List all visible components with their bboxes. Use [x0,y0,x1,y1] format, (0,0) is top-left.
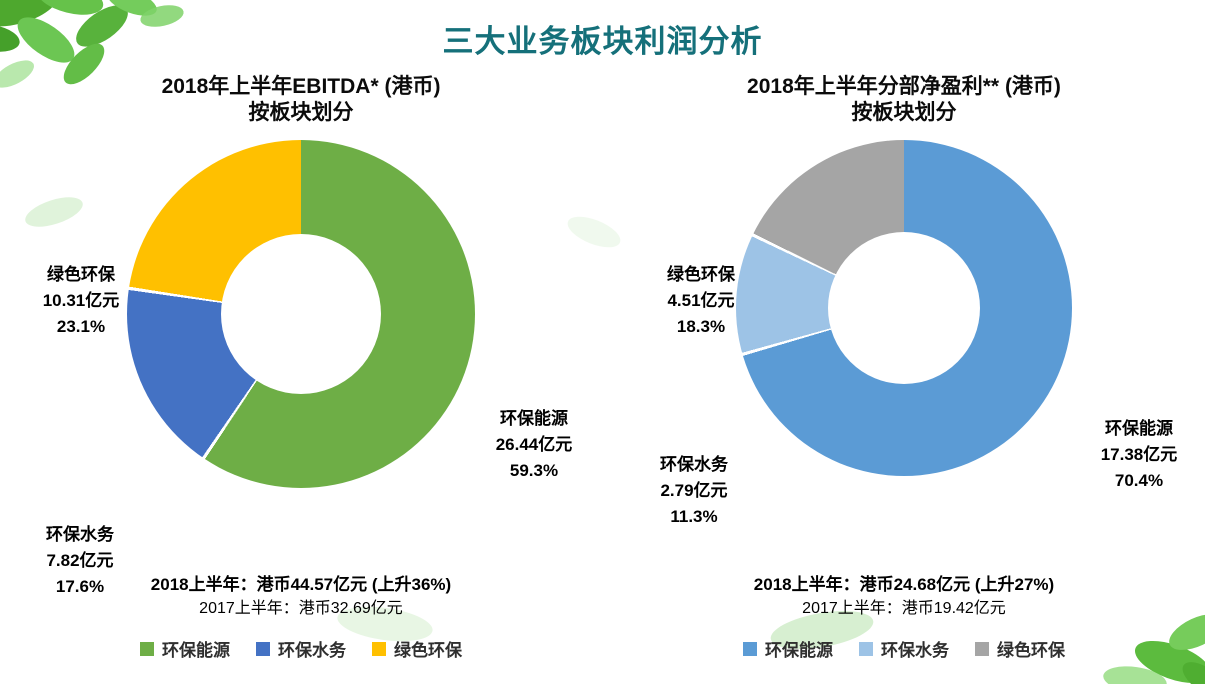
slice-label-value: 10.31亿元 [16,288,146,314]
panel-title-ebitda: 2018年上半年EBITDA* (港币) 按板块划分 [0,74,602,126]
slice-label-water-segment-profit: 环保水务 2.79亿元 11.3% [619,452,769,530]
donut-wrap-segment-profit [736,140,1072,476]
slice-label-value: 17.38亿元 [1073,442,1205,468]
footer-note-segment-profit: 2018上半年：港币24.68亿元 (上升27%) 2017上半年：港币19.4… [603,572,1205,621]
slice-label-percent: 11.3% [619,504,769,530]
slice-label-percent: 23.1% [16,314,146,340]
legend-label-greentech: 绿色环保 [394,636,462,661]
legend-item-energy[interactable]: 环保能源 [743,636,833,661]
page-title: 三大业务板块利润分析 [0,16,1205,61]
panel-segment-profit: 2018年上半年分部净盈利** (港币) 按板块划分 绿色环保 4.51亿元 1… [603,74,1205,684]
slice-label-value: 2.79亿元 [619,478,769,504]
slice-label-main-segment-profit: 环保能源 17.38亿元 70.4% [1073,416,1205,494]
legend-label-greentech: 绿色环保 [997,636,1065,661]
legend-label-energy: 环保能源 [162,636,230,661]
slice-label-green-ebitda: 绿色环保 10.31亿元 23.1% [16,262,146,340]
legend-item-water[interactable]: 环保水务 [256,636,346,661]
slice-label-name: 环保水务 [619,452,769,478]
donut-chart-ebitda[interactable] [127,140,475,488]
donut-chart-segment-profit[interactable] [736,140,1072,476]
legend-label-water: 环保水务 [278,636,346,661]
slice-label-value: 4.51亿元 [631,288,771,314]
footer-note-ebitda: 2018上半年：港币44.57亿元 (上升36%) 2017上半年：港币32.6… [0,572,602,621]
panel-ebitda: 2018年上半年EBITDA* (港币) 按板块划分 绿色环保 10.31亿元 … [0,74,602,684]
legend-item-water[interactable]: 环保水务 [859,636,949,661]
chart-area-segment-profit: 绿色环保 4.51亿元 18.3% 环保水务 2.79亿元 11.3% 环保能源… [603,134,1205,534]
panel-title-line1: 2018年上半年EBITDA* (港币) [162,75,441,98]
slice-label-green-segment-profit: 绿色环保 4.51亿元 18.3% [631,262,771,340]
footer-line-prior: 2017上半年：港币19.42亿元 [603,597,1205,621]
donut-hole [221,234,381,394]
slice-label-name: 环保能源 [1073,416,1205,442]
legend-item-greentech[interactable]: 绿色环保 [372,636,462,661]
panel-title-line2: 按板块划分 [621,100,1187,126]
slice-label-name: 环保能源 [468,406,600,432]
legend-swatch-energy [140,642,154,656]
legend-label-water: 环保水务 [881,636,949,661]
footer-line-prior: 2017上半年：港币32.69亿元 [0,597,602,621]
donut-hole [828,232,980,384]
panel-title-line2: 按板块划分 [18,100,584,126]
legend-label-energy: 环保能源 [765,636,833,661]
legend-ebitda: 环保能源 环保水务 绿色环保 [0,636,602,661]
panel-title-line1: 2018年上半年分部净盈利** (港币) [747,75,1061,98]
legend-swatch-water [256,642,270,656]
legend-swatch-water [859,642,873,656]
legend-item-energy[interactable]: 环保能源 [140,636,230,661]
slice-label-value: 7.82亿元 [10,548,150,574]
slice-label-name: 环保水务 [10,522,150,548]
panel-title-segment-profit: 2018年上半年分部净盈利** (港币) 按板块划分 [603,74,1205,126]
slice-label-percent: 70.4% [1073,468,1205,494]
slide-root: 三大业务板块利润分析 2018年上半年EBITDA* (港币) 按板块划分 绿色… [0,0,1205,684]
slice-label-percent: 18.3% [631,314,771,340]
footer-line-current: 2018上半年：港币24.68亿元 (上升27%) [603,572,1205,597]
slice-label-name: 绿色环保 [631,262,771,288]
chart-area-ebitda: 绿色环保 10.31亿元 23.1% 环保水务 7.82亿元 17.6% 环保能… [0,134,602,534]
legend-swatch-greentech [975,642,989,656]
legend-segment-profit: 环保能源 环保水务 绿色环保 [603,636,1205,661]
slice-label-percent: 59.3% [468,458,600,484]
legend-swatch-energy [743,642,757,656]
slice-label-name: 绿色环保 [16,262,146,288]
donut-wrap-ebitda [127,140,475,488]
legend-swatch-greentech [372,642,386,656]
legend-item-greentech[interactable]: 绿色环保 [975,636,1065,661]
slice-label-main-ebitda: 环保能源 26.44亿元 59.3% [468,406,600,484]
footer-line-current: 2018上半年：港币44.57亿元 (上升36%) [0,572,602,597]
slice-label-value: 26.44亿元 [468,432,600,458]
